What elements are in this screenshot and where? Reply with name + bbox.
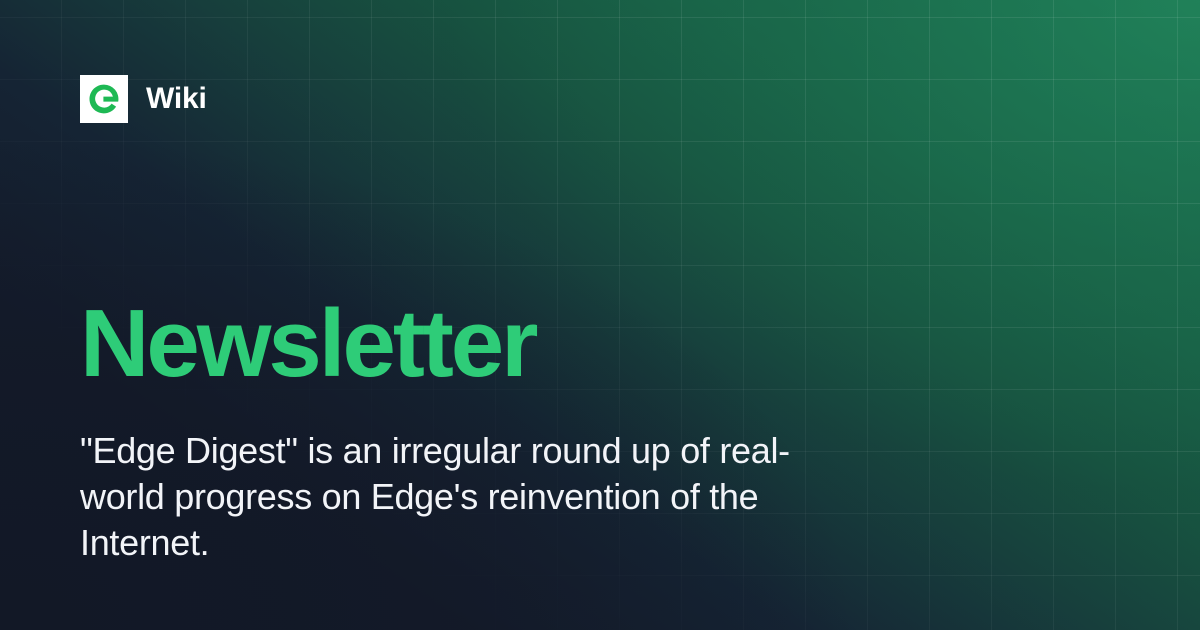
- page-title: Newsletter: [80, 296, 536, 392]
- social-share-card: Wiki Newsletter "Edge Digest" is an irre…: [0, 0, 1200, 630]
- card-content: Wiki Newsletter "Edge Digest" is an irre…: [0, 0, 1200, 630]
- edge-e-logo-icon: [80, 75, 128, 123]
- brand-lockup: Wiki: [80, 75, 207, 123]
- brand-name-label: Wiki: [146, 84, 207, 114]
- page-description: "Edge Digest" is an irregular round up o…: [80, 428, 800, 566]
